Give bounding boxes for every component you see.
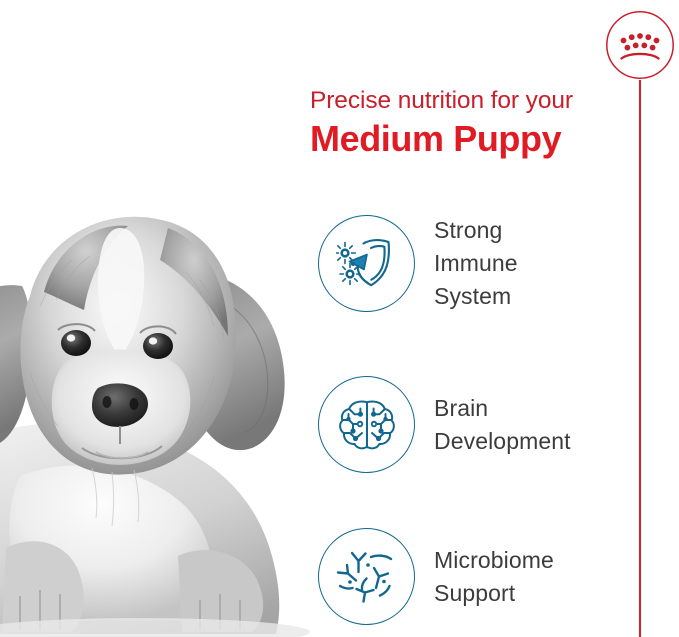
infographic-page: Precise nutrition for your Medium Puppy <box>0 0 679 637</box>
brand-vertical-rule <box>639 80 641 637</box>
benefit-label-brain: Brain Development <box>434 392 571 458</box>
benefit-item-brain: Brain Development <box>318 376 571 473</box>
headline-line-2: Medium Puppy <box>310 116 630 162</box>
royal-canin-crown-logo <box>601 6 679 86</box>
benefit-item-immune: Strong Immune System <box>318 214 518 313</box>
brain-icon <box>318 376 415 473</box>
headline-line-1: Precise nutrition for your <box>310 86 630 116</box>
puppy-photo <box>0 176 330 637</box>
benefit-item-microbiome: Microbiome Support <box>318 528 554 625</box>
microbiome-icon <box>318 528 415 625</box>
benefit-label-microbiome: Microbiome Support <box>434 544 554 610</box>
shield-immune-icon <box>318 215 415 312</box>
benefit-label-immune: Strong Immune System <box>434 214 518 313</box>
page-title: Precise nutrition for your Medium Puppy <box>310 86 630 162</box>
